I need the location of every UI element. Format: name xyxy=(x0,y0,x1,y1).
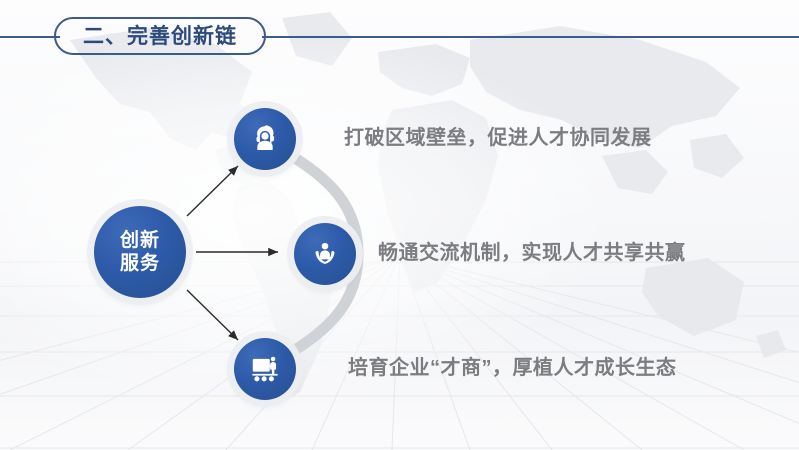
hands-nurturing-person-icon xyxy=(308,237,342,271)
headset-agent-icon xyxy=(248,122,282,156)
arrow-to-item-3 xyxy=(187,290,238,340)
hub-label-line-1: 创新 xyxy=(120,229,160,252)
item-node-2[interactable] xyxy=(294,223,356,285)
item-text-2: 畅通交流机制，实现人才共享共赢 xyxy=(378,243,686,263)
slide-canvas: 二、完善创新链 创新 服务 xyxy=(0,0,799,450)
item-text-3: 培育企业“才商”，厚植人才成长生态 xyxy=(348,358,677,378)
hub-label-line-2: 服务 xyxy=(120,252,160,275)
presentation-training-icon xyxy=(248,352,282,386)
item-node-3[interactable] xyxy=(234,338,296,400)
arrow-to-item-1 xyxy=(187,166,238,216)
hub-node-innovation-service[interactable]: 创新 服务 xyxy=(94,206,186,298)
item-node-1[interactable] xyxy=(234,108,296,170)
item-text-1: 打破区域壁垒，促进人才协同发展 xyxy=(344,128,652,148)
hub-node-label: 创新 服务 xyxy=(120,229,160,275)
